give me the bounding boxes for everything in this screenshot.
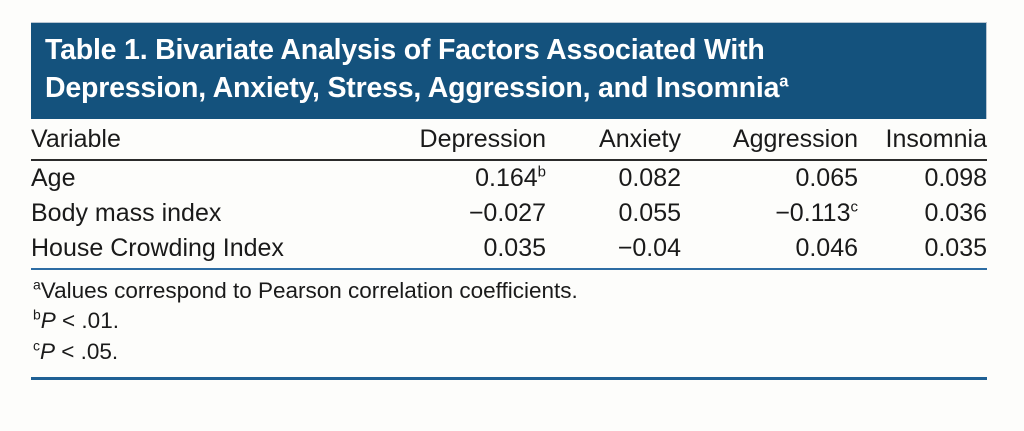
column-header-depression: Depression [366,119,546,160]
table-row: Age 0.164b 0.082 0.065 0.098 [31,160,987,196]
table-bottom-rule [31,377,987,380]
cell-aggression: 0.046 [681,231,858,269]
cell-value: 0.082 [618,164,681,192]
cell-value: 0.035 [483,234,546,262]
cell-footnote-marker: b [538,163,546,180]
footnote-italic: P [41,308,56,333]
table-header-row: Variable Depression Anxiety Aggression I… [31,119,987,160]
footnote-marker: c [33,337,40,353]
footnote-tail: < .01. [56,308,119,333]
cell-depression: 0.035 [366,231,546,269]
cell-depression: −0.027 [366,196,546,231]
cell-insomnia: 0.036 [858,196,987,231]
table-row: House Crowding Index 0.035 −0.04 0.046 0… [31,231,987,269]
cell-anxiety: 0.082 [546,160,681,196]
footnote-a: aValues correspond to Pearson correlatio… [31,276,987,307]
footnote-tail: < .05. [55,339,118,364]
column-header-variable: Variable [31,119,366,160]
column-header-insomnia: Insomnia [858,119,987,160]
cell-insomnia: 0.098 [858,160,987,196]
cell-value: 0.065 [795,164,858,192]
table-body: Age 0.164b 0.082 0.065 0.098 Body mass i… [31,160,987,269]
footnote-text: Values correspond to Pearson correlation… [41,278,578,303]
cell-variable: Age [31,160,366,196]
table-title-banner: Table 1. Bivariate Analysis of Factors A… [31,22,987,119]
footnote-marker: b [33,307,41,323]
footnote-b: bP < .01. [31,306,987,337]
table-figure: Table 1. Bivariate Analysis of Factors A… [0,0,1024,431]
cell-value: −0.027 [469,199,546,227]
cell-anxiety: −0.04 [546,231,681,269]
cell-aggression: −0.113c [681,196,858,231]
table-title-line2: Depression, Anxiety, Stress, Aggression,… [45,72,779,104]
cell-variable: House Crowding Index [31,231,366,269]
cell-value: 0.164 [475,164,538,192]
cell-value: 0.055 [618,199,681,227]
cell-anxiety: 0.055 [546,196,681,231]
cell-variable: Body mass index [31,196,366,231]
cell-value: 0.098 [924,164,987,192]
cell-value: −0.04 [618,234,681,262]
cell-value: 0.036 [924,199,987,227]
column-header-aggression: Aggression [681,119,858,160]
column-header-anxiety: Anxiety [546,119,681,160]
table-footnotes: aValues correspond to Pearson correlatio… [31,270,987,368]
cell-depression: 0.164b [366,160,546,196]
table-title-line1: Table 1. Bivariate Analysis of Factors A… [45,34,765,66]
cell-value: 0.046 [795,234,858,262]
table-container: Table 1. Bivariate Analysis of Factors A… [31,22,987,380]
footnote-marker: a [33,276,41,292]
cell-value: 0.035 [924,234,987,262]
table-header: Variable Depression Anxiety Aggression I… [31,119,987,160]
footnote-c: cP < .05. [31,337,987,368]
cell-footnote-marker: c [851,198,859,215]
results-table: Variable Depression Anxiety Aggression I… [31,119,987,270]
cell-aggression: 0.065 [681,160,858,196]
footnote-italic: P [40,339,55,364]
table-title-footnote-marker: a [779,71,788,90]
table-row: Body mass index −0.027 0.055 −0.113c 0.0… [31,196,987,231]
table-title: Table 1. Bivariate Analysis of Factors A… [45,32,972,108]
cell-value: −0.113 [775,199,850,227]
cell-insomnia: 0.035 [858,231,987,269]
